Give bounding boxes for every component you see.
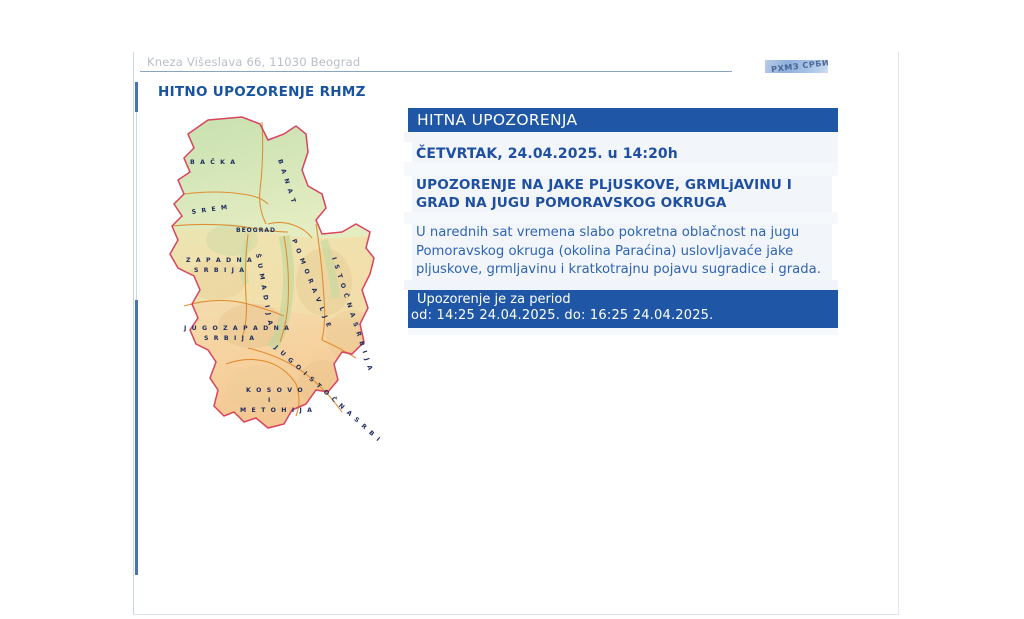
map-label-zapadna-srbija-l2: S R B I J A [194, 267, 246, 274]
warning-body-text: U narednih sat vremena slabo pokretna ob… [412, 224, 832, 280]
map-label-kosovo-l2: I [268, 397, 272, 404]
header-divider-rule [140, 71, 732, 72]
map-label-jugozapadna-srbija-l1: J U G O Z A P A D N A [183, 325, 291, 332]
panel-spacer-c [404, 280, 838, 290]
panel-spacer-b [404, 212, 838, 224]
warning-period-label: Upozorenje je za period [408, 292, 838, 309]
map-label-kosovo-l3: M E T O H I J A [240, 407, 314, 414]
warning-issued-timestamp: ČETVRTAK, 24.04.2025. u 14:20h [412, 142, 838, 162]
left-accent-rail-bottom [135, 300, 138, 575]
map-label-backa: B A Č K A [190, 157, 237, 166]
map-label-kosovo-l1: K O S O V O [246, 387, 304, 394]
panel-spacer-top [404, 132, 838, 142]
rhmz-logo-badge: РХМЗ СРБИЈЕ [765, 60, 828, 73]
warning-period-range: od: 14:25 24.04.2025. do: 16:25 24.04.20… [408, 308, 838, 325]
hitna-upozorenja-panel: HITNA UPOZORENJA ČETVRTAK, 24.04.2025. u… [404, 108, 838, 335]
warning-banner-title: HITNA UPOZORENJA [408, 108, 838, 132]
page-title: HITNO UPOZORENJE RHMZ [158, 84, 366, 100]
panel-spacer-bottom [408, 328, 838, 335]
map-label-jugozapadna-srbija-l2: S R B I J A [204, 335, 256, 342]
warning-period-banner: Upozorenje je za period od: 14:25 24.04.… [408, 290, 838, 328]
warning-headline: UPOZORENJE NA JAKE PLjUSKOVE, GRMLjAVINU… [412, 176, 832, 212]
map-label-zapadna-srbija-l1: Z A P A D N A [186, 257, 253, 264]
rhmz-logo-text: РХМЗ СРБИЈЕ [771, 60, 828, 73]
left-accent-rail-top [135, 82, 138, 112]
serbia-regions-map: B A Č K A B A N A T S R E M BEOGRAD Z A … [156, 112, 404, 442]
warning-headline-line2: GRAD NA JUGU POMORAVSKOG OKRUGA [416, 194, 832, 212]
institute-address: Kneza Višeslava 66, 11030 Beograd [147, 57, 732, 71]
warning-headline-line1: UPOZORENJE NA JAKE PLjUSKOVE, GRMLjAVINU… [416, 176, 832, 194]
map-label-beograd: BEOGRAD [236, 227, 276, 234]
panel-spacer-a [404, 162, 838, 176]
left-hairline-rail [136, 112, 137, 300]
